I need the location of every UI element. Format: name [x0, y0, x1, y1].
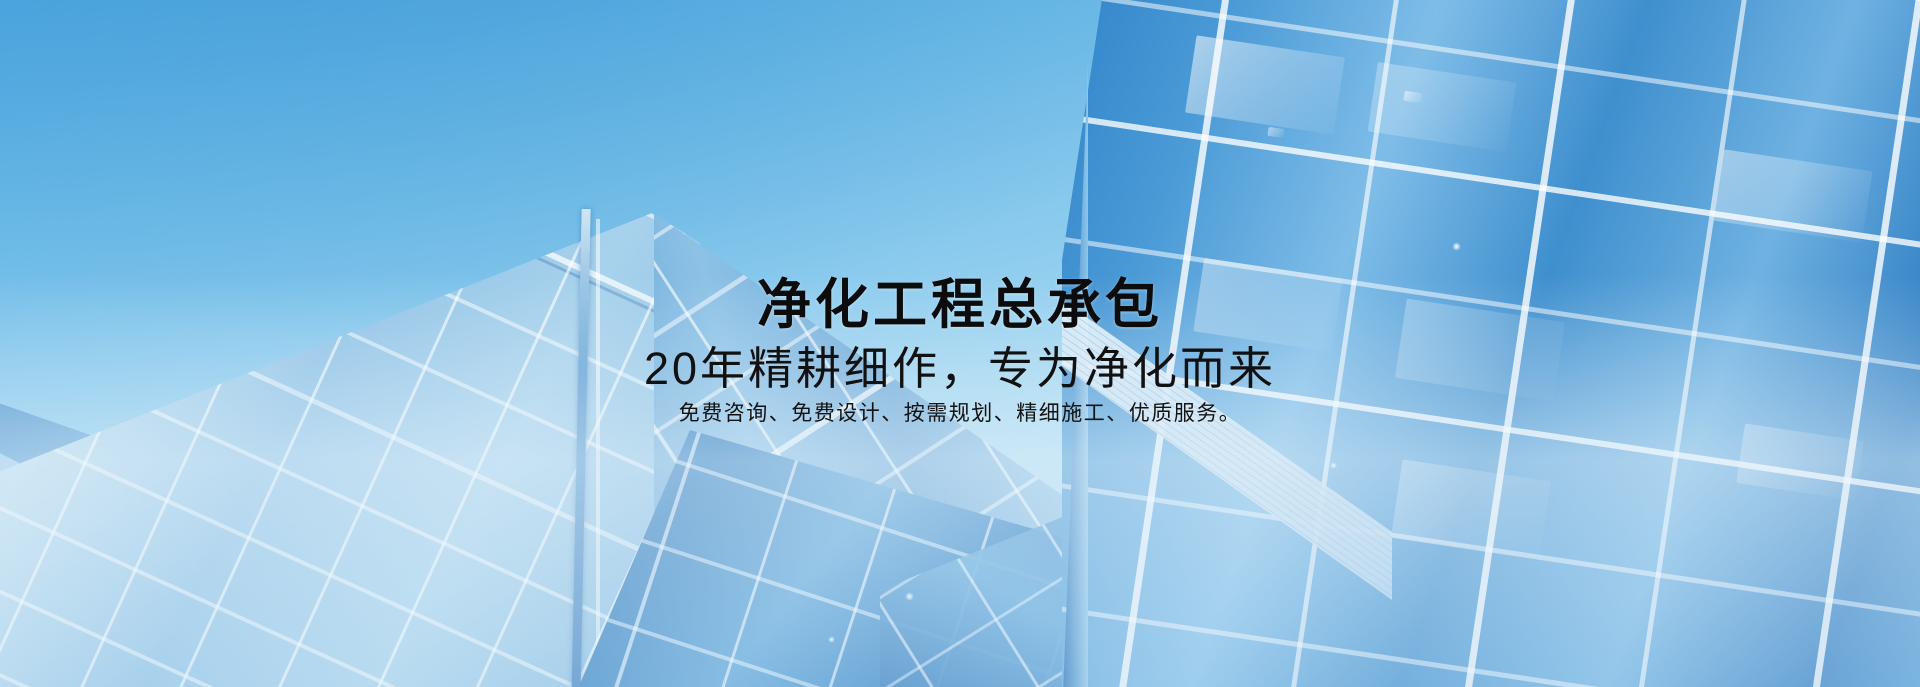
- center-left-face-grid: [0, 195, 700, 687]
- page-title: 净化工程总承包: [0, 278, 1920, 332]
- glass-glint: [1452, 242, 1461, 251]
- hero-banner: 净化工程总承包 20年精耕细作，专为净化而来 免费咨询、免费设计、按需规划、精细…: [0, 0, 1920, 687]
- hero-tagline: 免费咨询、免费设计、按需规划、精细施工、优质服务。: [0, 403, 1920, 424]
- hero-copy: 净化工程总承包 20年精耕细作，专为净化而来 免费咨询、免费设计、按需规划、精细…: [0, 278, 1920, 424]
- glass-glint: [905, 592, 914, 601]
- hero-subheadline: 20年精耕细作，专为净化而来: [0, 346, 1920, 391]
- glass-glint: [1330, 462, 1337, 469]
- center-building-left-face: [0, 195, 700, 687]
- glass-glint: [828, 636, 835, 643]
